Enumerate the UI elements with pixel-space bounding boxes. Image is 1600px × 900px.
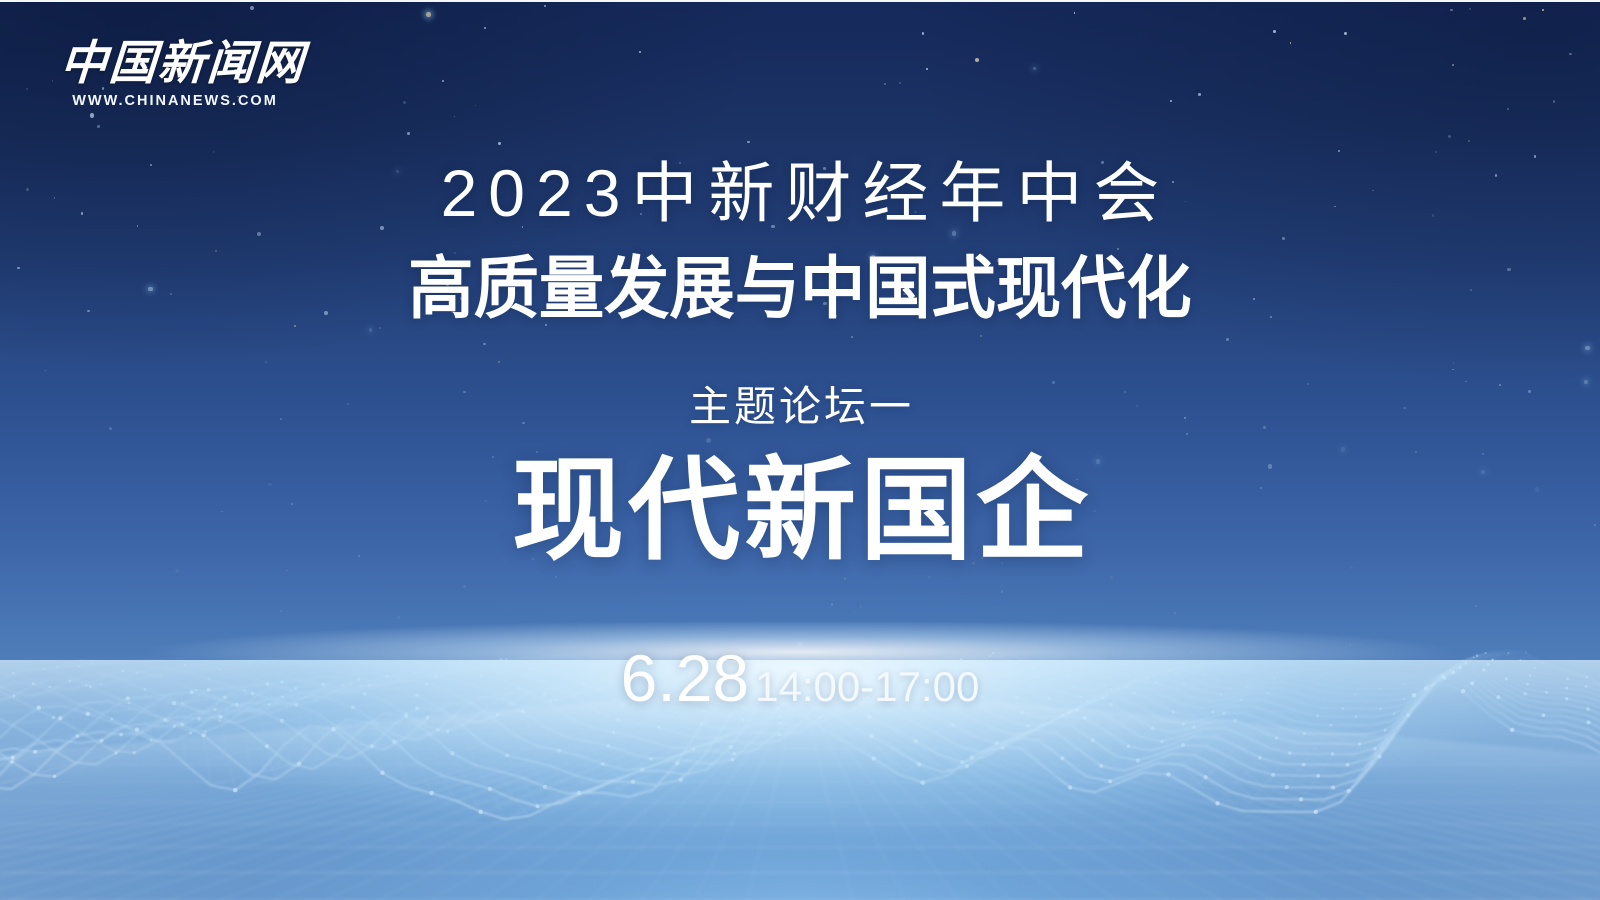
event-title-line-1: 2023中新财经年中会	[0, 160, 1600, 226]
event-title-line-2: 高质量发展与中国式现代化	[32, 255, 1568, 323]
poster-canvas: 中国新闻网 WWW.CHINANEWS.COM 2023中新财经年中会 高质量发…	[0, 0, 1600, 900]
event-time-range: 14:00-17:00	[755, 663, 979, 710]
event-date: 6.28	[621, 641, 749, 715]
event-datetime: 6.2814:00-17:00	[0, 645, 1600, 711]
forum-label: 主题论坛一	[0, 386, 1600, 428]
logo-chinese-name: 中国新闻网	[58, 40, 291, 88]
chinanews-logo[interactable]: 中国新闻网 WWW.CHINANEWS.COM	[60, 40, 290, 109]
logo-website-url: WWW.CHINANEWS.COM	[60, 93, 290, 109]
forum-name: 现代新国企	[0, 455, 1600, 567]
